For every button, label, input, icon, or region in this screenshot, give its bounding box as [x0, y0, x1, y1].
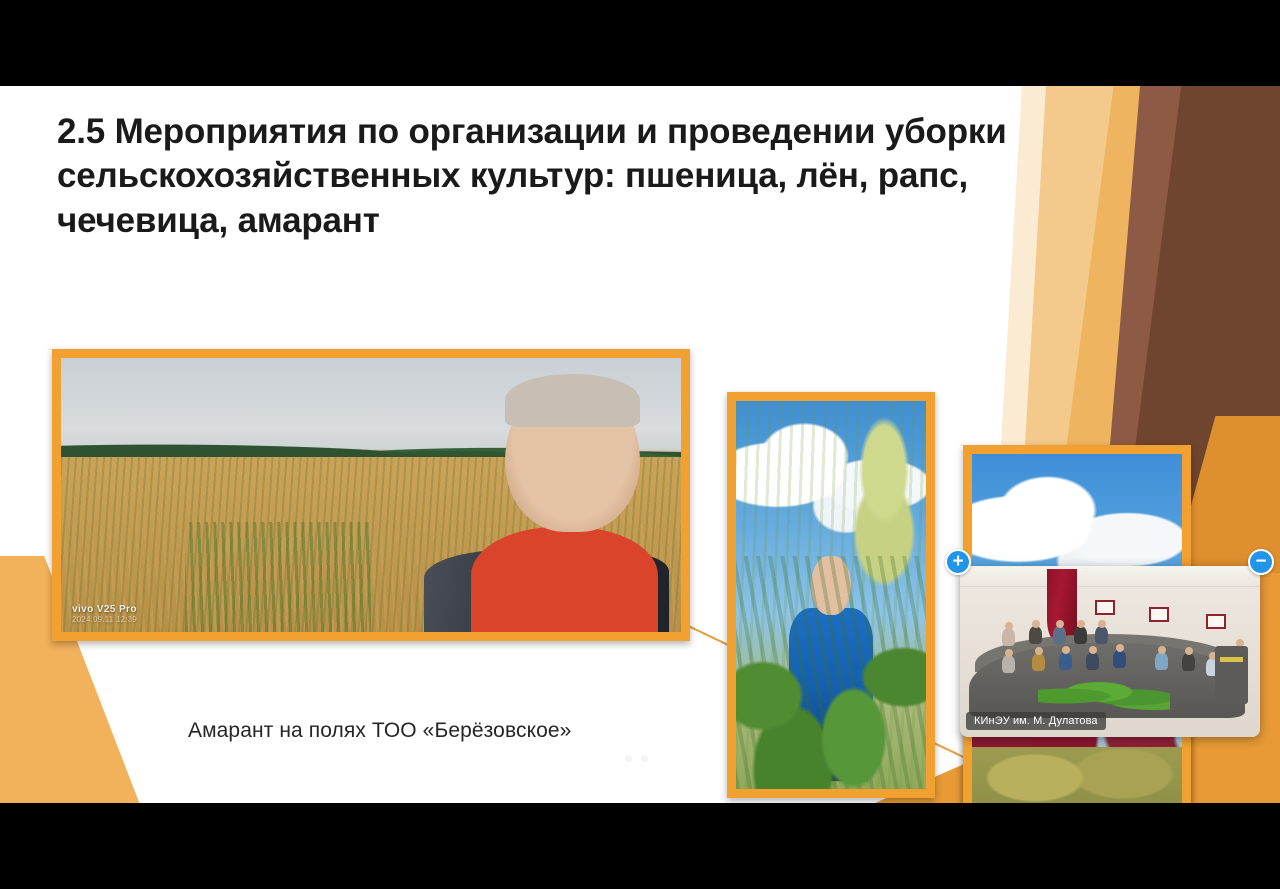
wall-picture-frame	[1095, 600, 1115, 615]
slide-title: 2.5 Мероприятия по организации и проведе…	[57, 110, 1077, 243]
camera-watermark: vivo V25 Pro 2024.09.11 12:39	[72, 604, 137, 624]
seated-participant	[1113, 650, 1126, 668]
seated-participant	[1002, 655, 1015, 673]
video-conference-tile[interactable]: КИнЭУ им. М. Дулатова	[960, 566, 1260, 737]
field-green-patch	[185, 522, 371, 632]
amaranth-leaves	[736, 556, 926, 789]
decor-dots	[625, 749, 657, 759]
person-in-field	[408, 369, 668, 632]
screen: 2.5 Мероприятия по организации и проведе…	[0, 0, 1280, 889]
photo-caption: Амарант на полях ТОО «Берёзовское»	[188, 719, 571, 743]
seated-participant	[1155, 652, 1168, 670]
photo-man-with-amaranth	[727, 392, 935, 798]
zoom-out-icon[interactable]: −	[1248, 549, 1274, 575]
podium	[1215, 646, 1248, 704]
photo-amaranth-field-image: vivo V25 Pro 2024.09.11 12:39	[61, 358, 681, 632]
foliage-base	[972, 747, 1182, 803]
back-row-participant	[1029, 626, 1042, 644]
zoom-in-icon[interactable]: +	[945, 549, 971, 575]
wall-picture-frame	[1206, 614, 1226, 629]
back-row-participant	[1053, 626, 1066, 644]
letterbox-bar-top	[0, 0, 1280, 86]
red-collar	[471, 527, 658, 632]
letterbox-bar-bottom	[0, 803, 1280, 889]
photo-man-with-amaranth-image	[736, 401, 926, 789]
hair	[505, 374, 640, 427]
seated-participant	[1182, 653, 1195, 671]
seated-participant	[1086, 652, 1099, 670]
seated-participant	[1059, 652, 1072, 670]
table-plants	[1038, 679, 1170, 713]
photo-amaranth-field: vivo V25 Pro 2024.09.11 12:39	[52, 349, 690, 641]
back-row-participant	[1002, 628, 1015, 646]
back-row-participant	[1074, 626, 1087, 644]
wall-picture-frame	[1149, 607, 1169, 622]
participant-name-label: КИнЭУ им. М. Дулатова	[966, 712, 1106, 730]
camera-watermark-date: 2024.09.11 12:39	[72, 615, 137, 624]
back-row-participant	[1095, 626, 1108, 644]
ceiling	[960, 566, 1260, 587]
seated-participant	[1032, 653, 1045, 671]
